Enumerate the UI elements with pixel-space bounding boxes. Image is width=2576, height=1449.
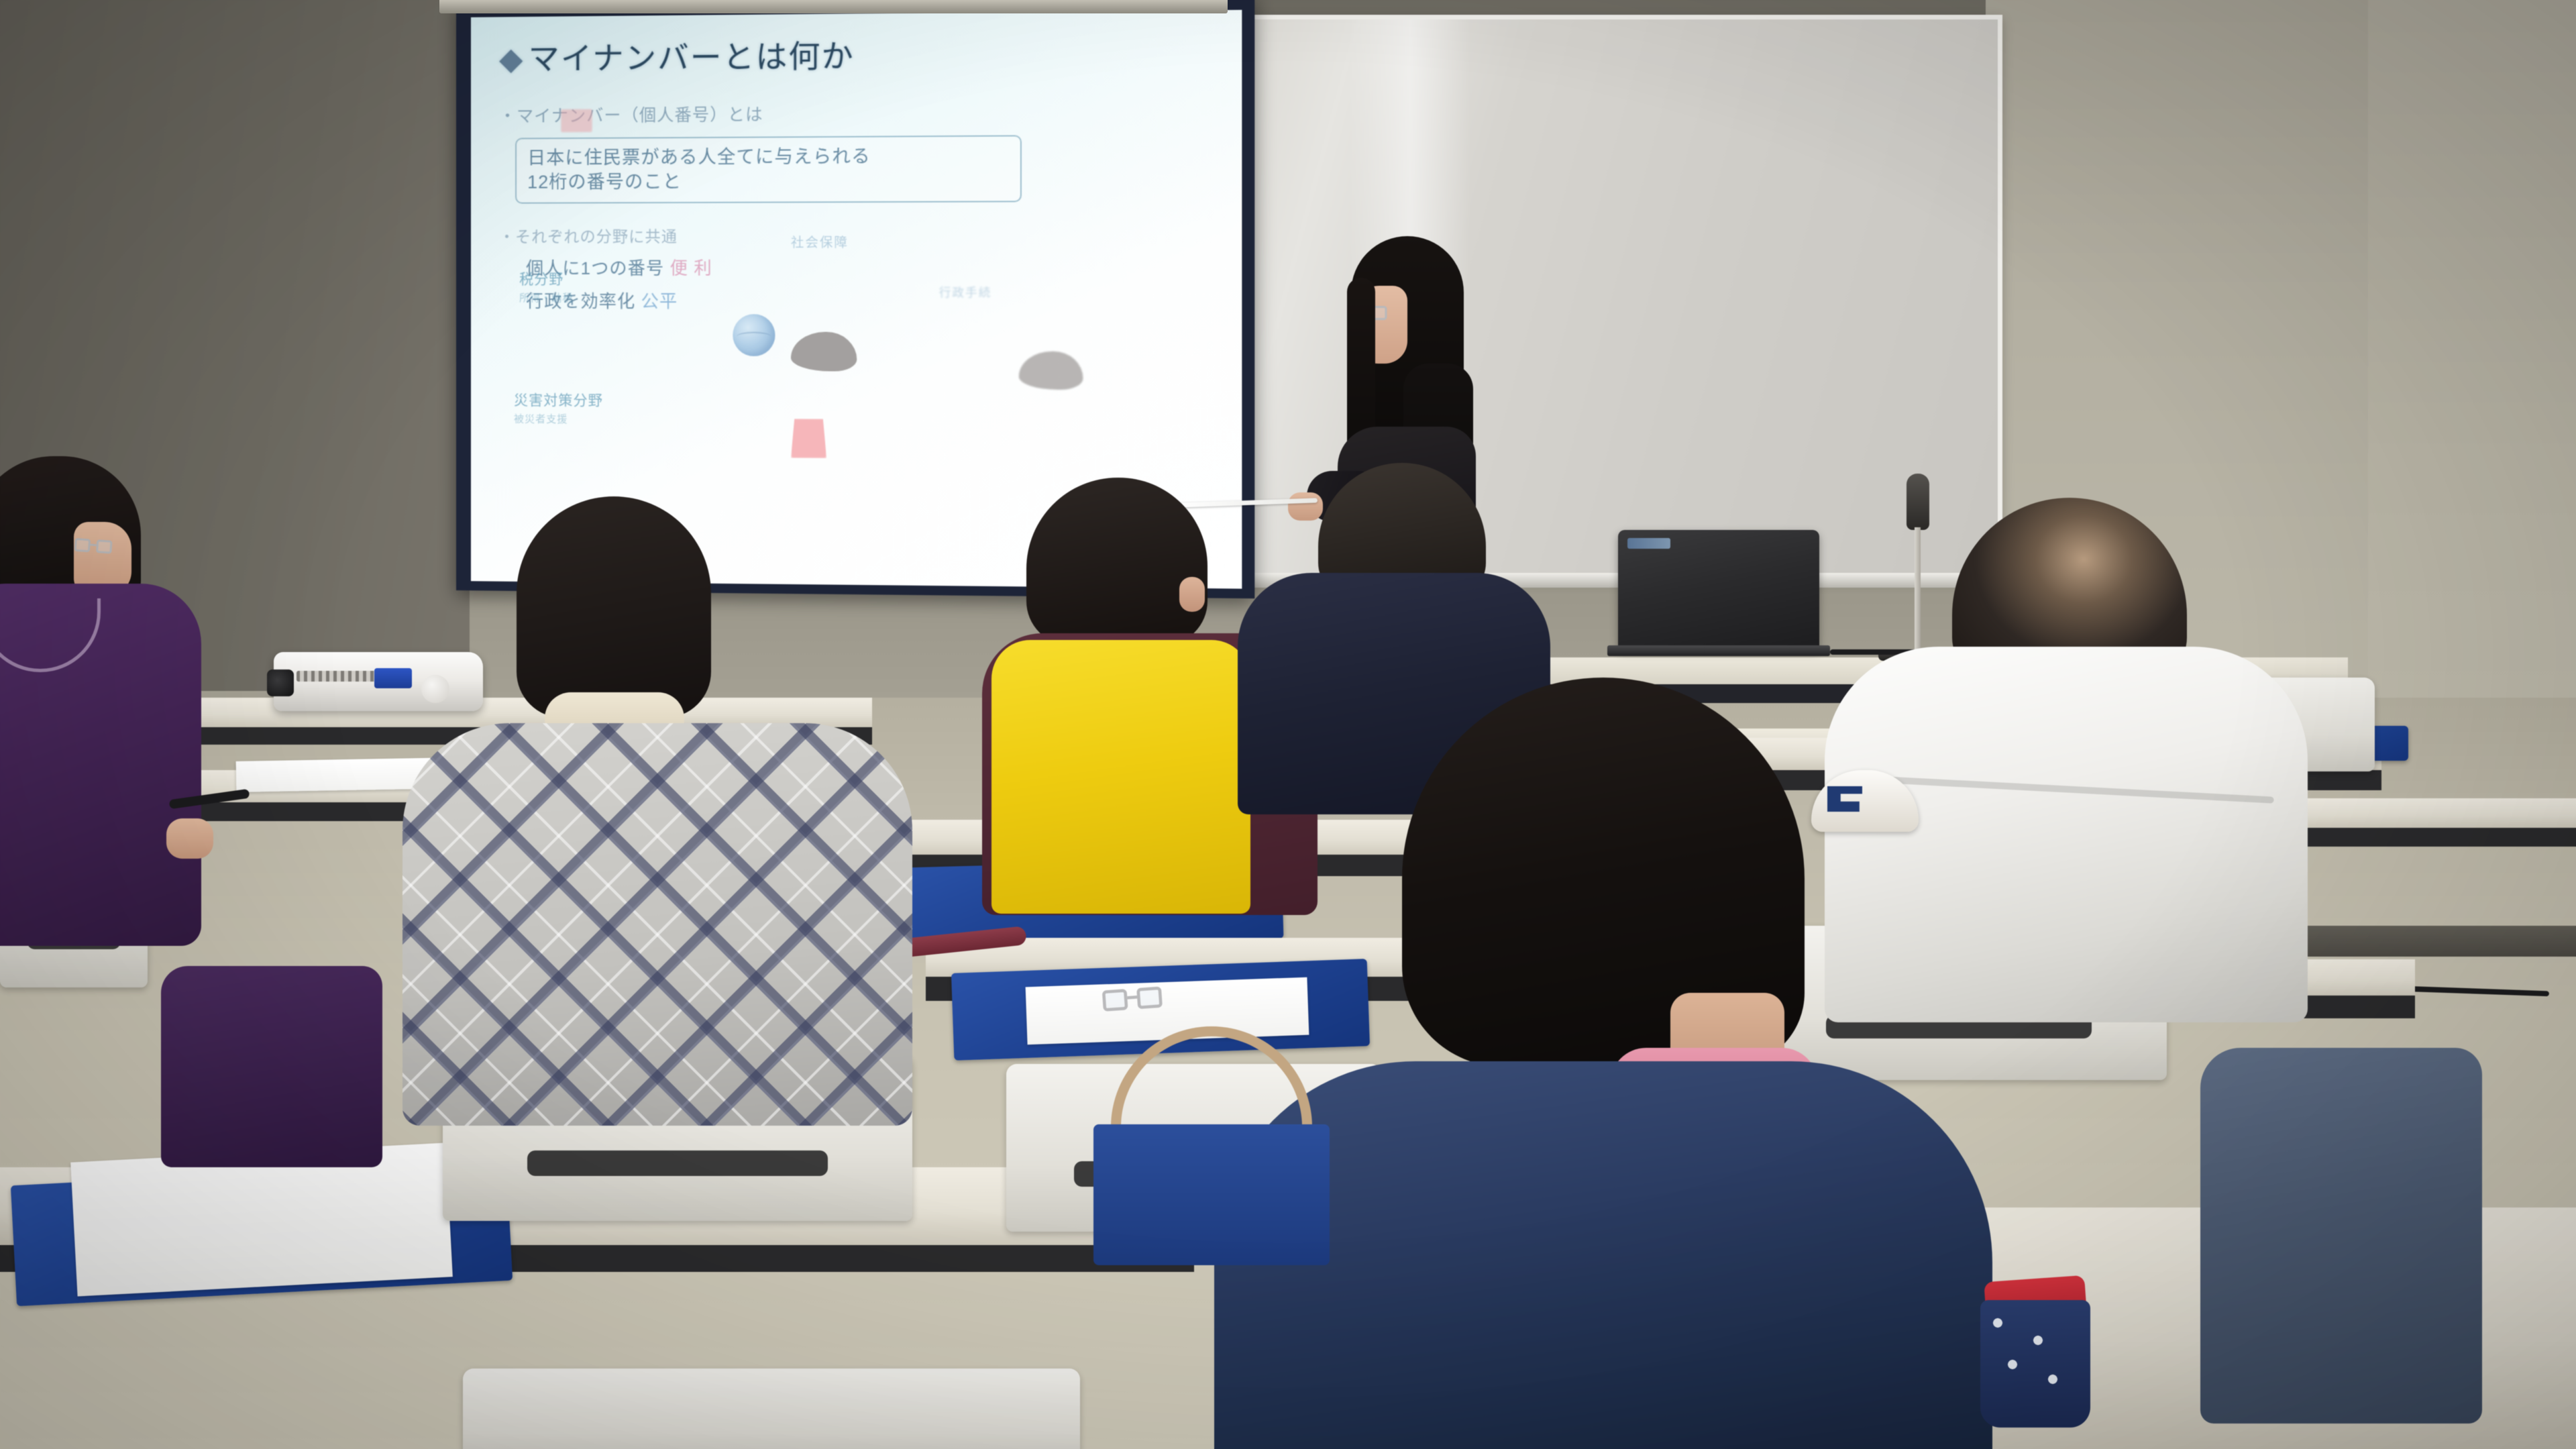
diamond-bullet-icon: ◆: [499, 41, 524, 76]
slide-tag-disaster-sub: 被災者支援: [514, 411, 603, 426]
attendee-white-legs: [2200, 1048, 2482, 1424]
slide-right-label: 行政手続: [939, 283, 992, 300]
attendee-purple-legs: [161, 966, 382, 1167]
slide-bullet-2: ・それぞれの分野に共通: [499, 223, 1228, 248]
slide-tag-tax-text: 税分野: [519, 272, 563, 287]
laptop[interactable]: [1618, 530, 1819, 649]
handbag: [1093, 1124, 1330, 1265]
slide-title: ◆マイナンバーとは何か: [499, 28, 1228, 79]
globe-icon: [733, 314, 775, 356]
glasses-bridge: [90, 544, 96, 547]
slide-tag-disaster: 災害対策分野 被災者支援: [514, 389, 603, 426]
slide-tag-tax-sub: 所得・納税: [519, 290, 573, 305]
attendee-navy-sweater: [1214, 1061, 1992, 1449]
attendee-purple-hand: [166, 818, 213, 859]
glasses-lens-left: [74, 538, 91, 552]
slide-tag-tax: 税分野 所得・納税: [519, 268, 573, 305]
attendee-yellow-hair: [1026, 478, 1207, 645]
card-icon-secondary: [561, 109, 592, 132]
attendee-argyle-torso: [402, 723, 912, 1126]
seminar-room-photo: ◆マイナンバーとは何か ・マイナンバー（個人番号）とは 日本に住民票がある人全て…: [0, 0, 2576, 1449]
cloud-icon: [791, 332, 857, 372]
slide-bullet-1: ・マイナンバー（個人番号）とは: [499, 98, 1228, 127]
slide-center-label: 社会保障: [791, 233, 849, 251]
attendee-navy: [1295, 678, 2006, 1449]
chair-foreground-left[interactable]: [463, 1368, 1080, 1449]
laptop-base: [1607, 645, 1830, 656]
slide-sub-line-1: 個人に1つの番号 便 利: [526, 254, 1228, 280]
paper-on-blue-bag: [1026, 977, 1309, 1045]
glasses-lens-right: [96, 539, 113, 553]
card-icon: [791, 419, 826, 458]
attendee-purple-glasses: [74, 538, 112, 555]
desk-glasses-bridge: [1127, 996, 1137, 1000]
slide-box-line-1: 日本に住民票がある人全てに与えられる: [527, 144, 1009, 170]
slide-highlight-a: 便: [670, 258, 688, 278]
attendee-yellow-ear: [1179, 577, 1205, 612]
cloud-icon-secondary: [1019, 352, 1083, 390]
slide-definition-box: 日本に住民票がある人全てに与えられる 12桁の番号のこと: [515, 135, 1022, 204]
laptop-badge-icon: [1627, 538, 1670, 549]
attendee-yellow-vest: [991, 640, 1250, 914]
slide-highlight-b: 利: [694, 258, 712, 278]
attendee-argyle-hair: [517, 496, 711, 718]
desk-glasses-lens-right: [1136, 986, 1163, 1009]
slide-box-line-2: 12桁の番号のこと: [527, 168, 1009, 195]
slide-title-text: マイナンバーとは何か: [528, 38, 854, 76]
screen-roller-bar: [439, 0, 1228, 13]
attendee-argyle: [396, 496, 973, 1207]
slide-tag-disaster-text: 災害対策分野: [514, 392, 603, 409]
slide-highlight-c: 公平: [641, 291, 678, 311]
slide-sub-line-2: 行政を効率化 公平: [526, 288, 1228, 313]
polka-dot-bag: [1980, 1300, 2090, 1428]
desk-glasses-lens-left: [1102, 989, 1128, 1012]
glasses-on-desk: [1102, 986, 1163, 1014]
